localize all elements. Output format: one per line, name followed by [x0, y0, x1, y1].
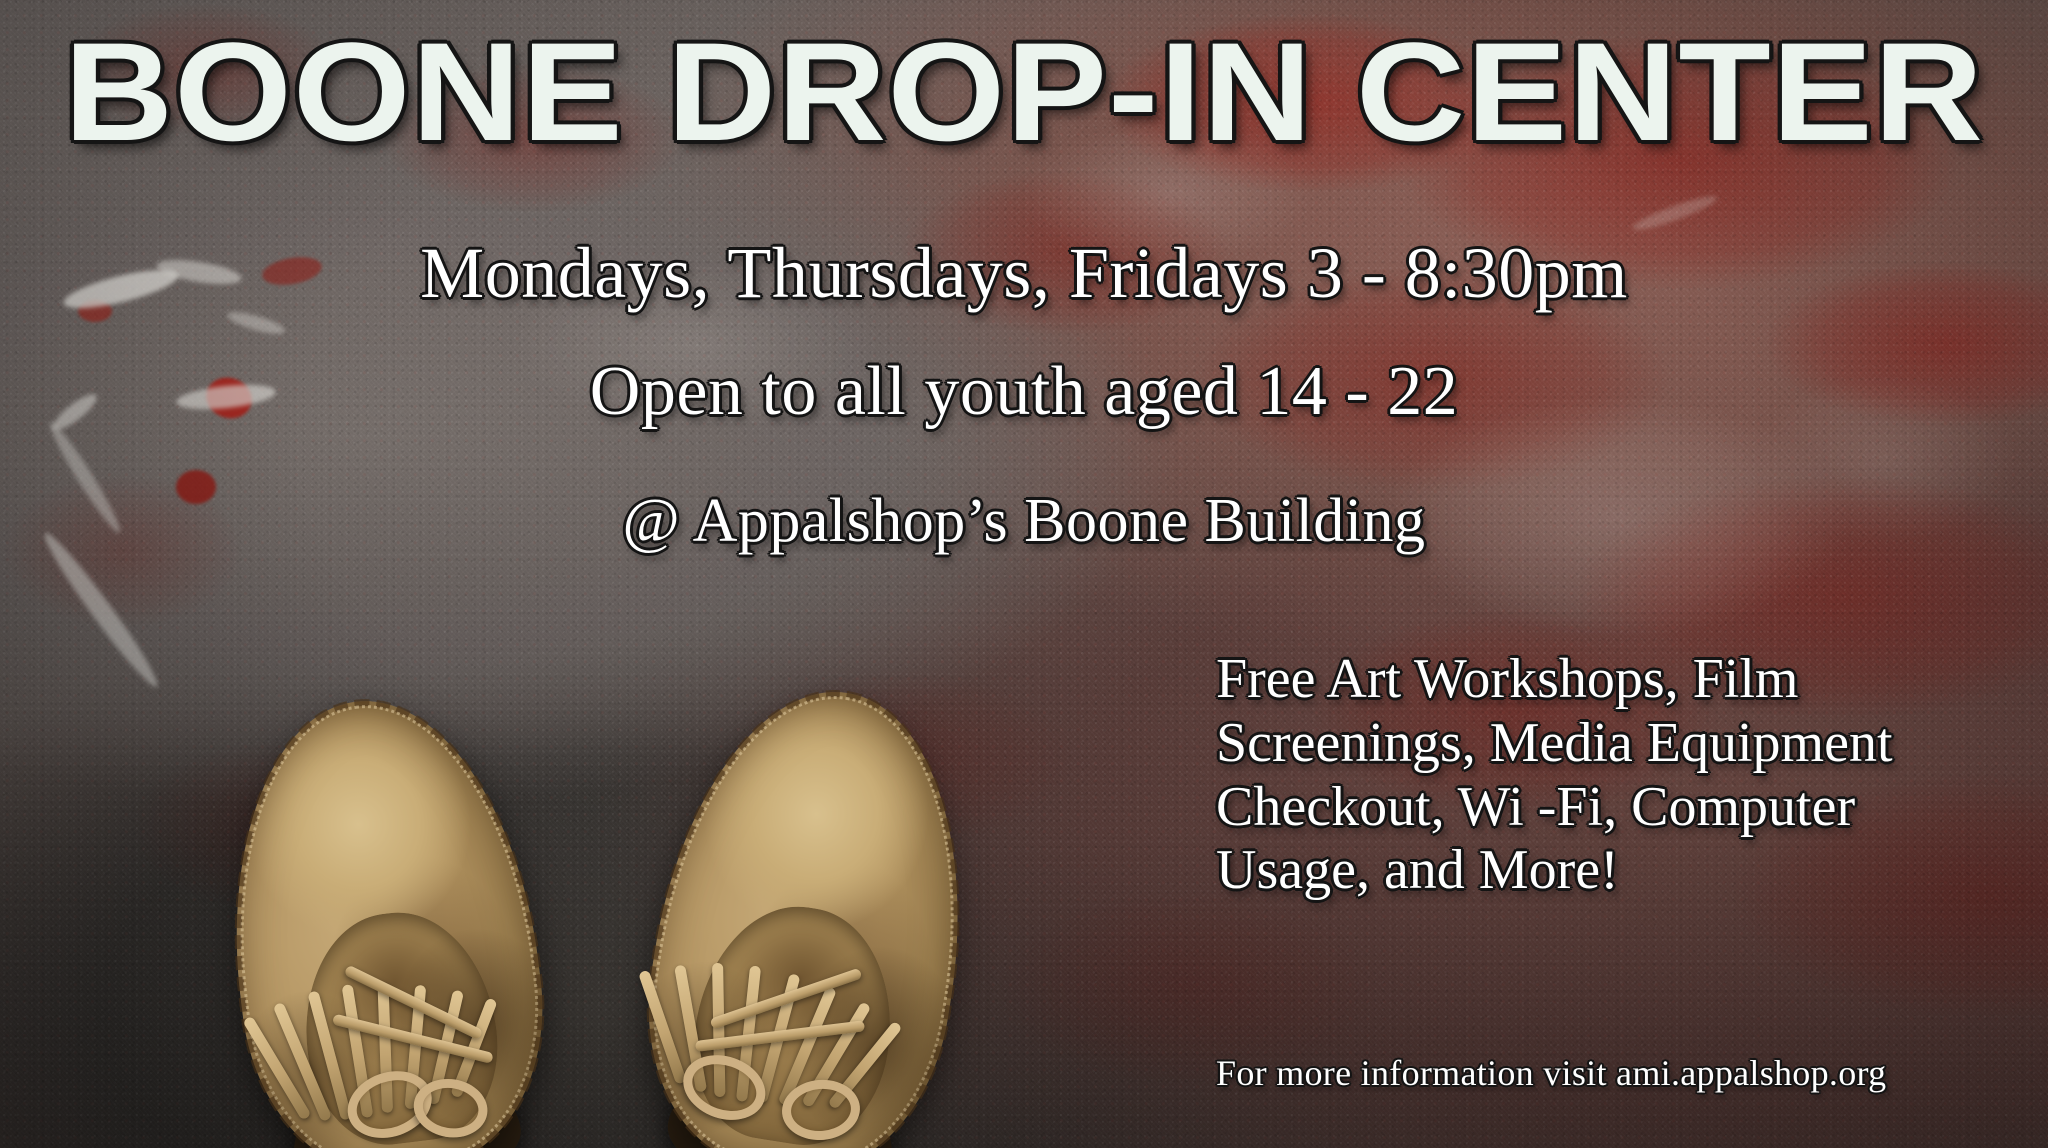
page-title: BOONE DROP-IN CENTER — [0, 22, 2048, 162]
services-line: Free Art Workshops, Film — [1216, 648, 2046, 712]
services-line: Usage, and More! — [1216, 839, 2046, 903]
eligibility-line: Open to all youth aged 14 - 22 — [0, 352, 2048, 432]
poster-text-layer: BOONE DROP-IN CENTER Mondays, Thursdays,… — [0, 0, 2048, 1148]
services-line: Screenings, Media Equipment — [1216, 712, 2046, 776]
more-information-note: For more information visit ami.appalshop… — [1216, 1052, 2046, 1094]
schedule-line: Mondays, Thursdays, Fridays 3 - 8:30pm — [0, 232, 2048, 315]
poster: BOONE DROP-IN CENTER Mondays, Thursdays,… — [0, 0, 2048, 1148]
venue-line: @ Appalshop’s Boone Building — [0, 486, 2048, 557]
services-list: Free Art Workshops, Film Screenings, Med… — [1216, 648, 2046, 903]
services-line: Checkout, Wi -Fi, Computer — [1216, 776, 2046, 840]
